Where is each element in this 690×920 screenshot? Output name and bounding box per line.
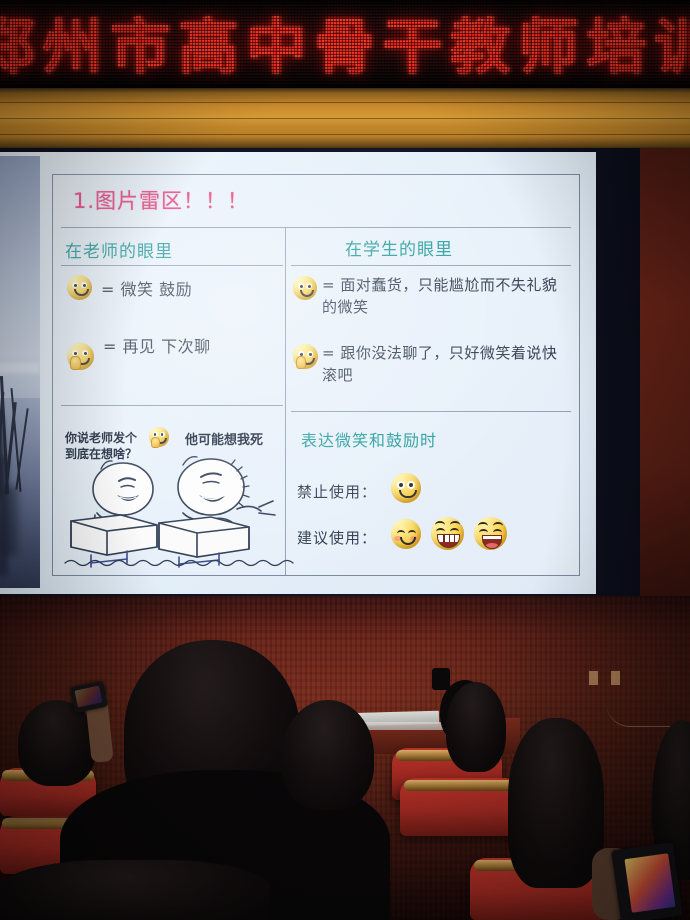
wall-outlet-right <box>611 671 620 685</box>
advice-heading: 表达微笑和鼓励时 <box>301 427 437 451</box>
smiley-waving-hand-icon <box>293 344 318 369</box>
teacher-row-1-text: = 微笑 鼓励 <box>101 278 192 301</box>
meme-drawing <box>61 451 309 569</box>
audience-head <box>0 860 270 920</box>
audience-head <box>508 718 604 888</box>
projected-slide: 1.图片雷区！！！ 在老师的眼里 在学生的眼里 <box>0 152 596 594</box>
forbid-label: 禁止使用： <box>297 481 377 502</box>
wall-right-of-screen <box>640 148 690 600</box>
smiley-waving-hand-icon <box>149 427 169 447</box>
led-banner: 郑州市高中骨干教师培训 <box>0 0 690 88</box>
student-row-1-text: = 面对蠢货，只能尴尬而不失礼貌的微笑 <box>322 275 566 319</box>
wood-trim-band <box>0 88 690 150</box>
recommend-label: 建议使用： <box>297 527 377 548</box>
teacher-row-2-text: = 再见 下次聊 <box>103 335 211 358</box>
led-banner-text: 郑州市高中骨干教师培训 <box>0 6 690 78</box>
smiley-waving-hand-icon <box>67 343 94 370</box>
phone-screen-bottom-right <box>624 853 675 913</box>
teacher-row-1: = 微笑 鼓励 <box>67 275 192 301</box>
column-header-student: 在学生的眼里 <box>345 235 453 260</box>
slide-photo-strip <box>0 156 40 588</box>
desk-paper-2 <box>358 722 444 730</box>
slide-title: 1.图片雷区！！！ <box>73 185 249 215</box>
column-header-teacher: 在老师的眼里 <box>65 237 173 262</box>
grinning-teeth-icon <box>431 517 464 550</box>
slide-content-box: 1.图片雷区！！！ 在老师的眼里 在学生的眼里 <box>52 174 580 576</box>
meme-caption-right: 他可能想我死 <box>185 429 263 448</box>
student-row-1: = 面对蠢货，只能尴尬而不失礼貌的微笑 <box>293 275 571 319</box>
student-row-2-text: = 跟你没法聊了，只好微笑着说快滚吧 <box>322 343 568 387</box>
camera-on-tripod <box>432 668 450 690</box>
audience-head <box>282 700 374 810</box>
audience-head <box>18 700 96 786</box>
smiley-face-icon <box>391 473 421 503</box>
smiley-face-icon <box>67 275 92 300</box>
smiley-face-icon <box>293 276 317 300</box>
laughing-open-mouth-icon <box>474 517 507 550</box>
audience-head <box>446 682 506 772</box>
wall-cable <box>606 686 680 727</box>
wall-outlet-left <box>589 671 598 685</box>
meme-illustration: 你说老师发个 到底在想啥？ 他可能想我死 <box>61 427 309 569</box>
meme-caption-left-1: 你说老师发个 <box>65 429 137 446</box>
student-row-2: = 跟你没法聊了，只好微笑着说快滚吧 <box>293 343 571 387</box>
seat-rail <box>404 780 520 791</box>
screenshot-root: 郑州市高中骨干教师培训 1.图片雷区！！！ <box>0 0 690 920</box>
teacher-row-2: = 再见 下次聊 <box>67 333 211 370</box>
blush-smile-icon <box>391 519 421 549</box>
